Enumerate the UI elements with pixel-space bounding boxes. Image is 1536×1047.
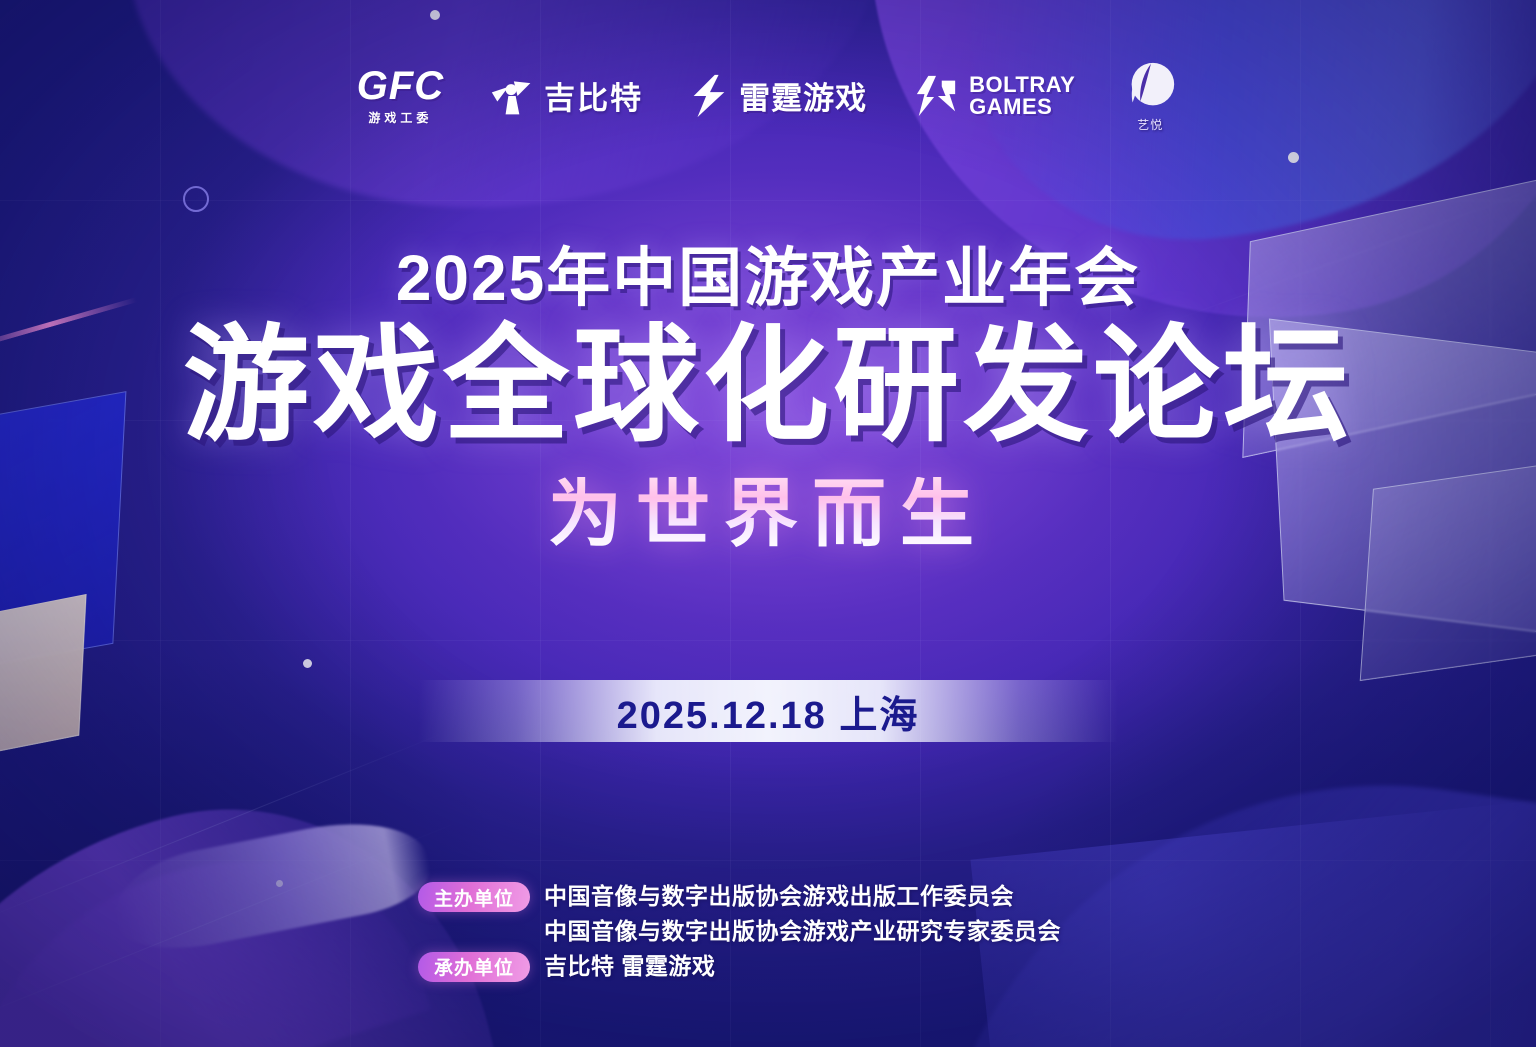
- gbits-mark-icon: [490, 74, 534, 118]
- bg-ribbon-highlight: [104, 807, 436, 961]
- coorganizer-label-badge: 承办单位: [418, 952, 530, 982]
- boltray-mark-icon: [913, 73, 959, 119]
- bg-streak-1: [0, 734, 441, 930]
- gfc-logo-main: GFC: [357, 66, 444, 106]
- gbits-logo: 吉比特: [490, 73, 643, 118]
- boltray-logo-text: BOLTRAY GAMES: [969, 74, 1075, 118]
- decor-dot-right: [1288, 152, 1299, 163]
- organizer-row-coorganizer: 承办单位 吉比特 雷霆游戏: [418, 952, 1061, 982]
- organizer-row-host: 主办单位 中国音像与数字出版协会游戏出版工作委员会 中国音像与数字出版协会游戏产…: [418, 882, 1061, 946]
- leiting-logo-text: 雷霆游戏: [739, 73, 867, 118]
- glass-panel-left-cream: [0, 594, 87, 770]
- event-poster: GFC 游戏工委 吉比特 雷霆游戏: [0, 0, 1536, 1047]
- boltray-logo-line1: BOLTRAY: [969, 74, 1075, 96]
- decor-dot-middle-left: [303, 659, 312, 668]
- host-name-line: 中国音像与数字出版协会游戏产业研究专家委员会: [544, 917, 1061, 946]
- yiyue-logo-text: 艺悦: [1137, 116, 1163, 133]
- boltray-logo-line2: GAMES: [969, 96, 1075, 118]
- gfc-logo-sub: 游戏工委: [368, 109, 432, 126]
- event-main-title: 游戏全球化研发论坛: [0, 322, 1536, 451]
- organizer-section: 主办单位 中国音像与数字出版协会游戏出版工作委员会 中国音像与数字出版协会游戏产…: [418, 882, 1061, 982]
- coorganizer-name-list: 吉比特 雷霆游戏: [544, 952, 715, 981]
- title-block: 2025年中国游戏产业年会 游戏全球化研发论坛 为世界而生: [0, 246, 1536, 551]
- yiyue-logo: 艺悦: [1121, 58, 1179, 133]
- gbits-logo-text: 吉比特: [544, 73, 643, 118]
- host-label-badge: 主办单位: [418, 882, 530, 912]
- host-name-line: 中国音像与数字出版协会游戏出版工作委员会: [544, 882, 1061, 911]
- decor-dot-bottom-left: [276, 880, 283, 887]
- event-slogan: 为世界而生: [0, 477, 1536, 551]
- bg-streak-2: [0, 821, 460, 1032]
- coorganizer-name-line: 吉比特 雷霆游戏: [544, 952, 715, 981]
- date-location-bar: 2025.12.18 上海: [418, 680, 1118, 742]
- sponsor-logo-row: GFC 游戏工委 吉比特 雷霆游戏: [0, 58, 1536, 133]
- bg-ribbon-back: [0, 810, 431, 1047]
- event-subtitle: 2025年中国游戏产业年会: [0, 246, 1536, 310]
- host-name-list: 中国音像与数字出版协会游戏出版工作委员会 中国音像与数字出版协会游戏产业研究专家…: [544, 882, 1061, 946]
- decor-dot-top: [430, 10, 440, 20]
- yiyue-moon-sail-icon: [1121, 58, 1179, 116]
- decor-ring-left: [183, 186, 209, 212]
- boltray-games-logo: BOLTRAY GAMES: [913, 73, 1075, 119]
- gfc-logo: GFC 游戏工委: [357, 66, 444, 126]
- date-location-text: 2025.12.18 上海: [617, 684, 920, 739]
- lightning-bolt-icon: [689, 73, 729, 119]
- leiting-games-logo: 雷霆游戏: [689, 73, 867, 119]
